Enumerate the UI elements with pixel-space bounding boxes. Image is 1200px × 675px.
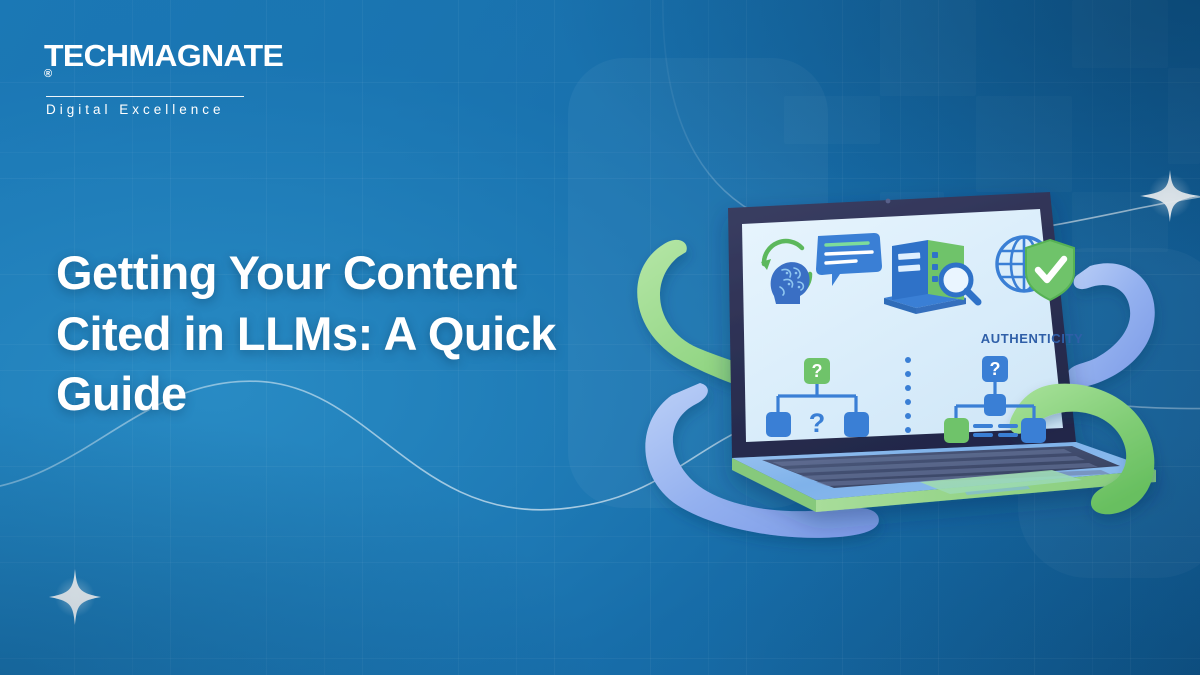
sparkle-bottom-left bbox=[49, 569, 101, 625]
page-title: Getting Your Content Cited in LLMs: A Qu… bbox=[56, 243, 631, 425]
laptop-illustration: AUTHENTICITY ? ? bbox=[620, 170, 1200, 570]
promo-banner: TECHMAGNATE® Digital Excellence Getting … bbox=[0, 0, 1200, 675]
registered-mark: ® bbox=[44, 69, 52, 80]
books-search-icon bbox=[884, 240, 978, 314]
left-flow-center-label: ? bbox=[809, 408, 826, 438]
brand-tagline: Digital Excellence bbox=[44, 102, 274, 117]
brand-name: TECHMAGNATE bbox=[44, 40, 283, 71]
logo-divider bbox=[46, 96, 244, 97]
brand-logo[interactable]: TECHMAGNATE® Digital Excellence bbox=[44, 40, 274, 117]
left-flow-top-label: ? bbox=[812, 361, 823, 381]
right-flow-top-label: ? bbox=[990, 359, 1001, 379]
brand-wordmark: TECHMAGNATE® bbox=[44, 40, 274, 90]
authenticity-label: AUTHENTICITY bbox=[981, 331, 1084, 346]
blue-ribbon-right bbox=[1066, 263, 1154, 387]
